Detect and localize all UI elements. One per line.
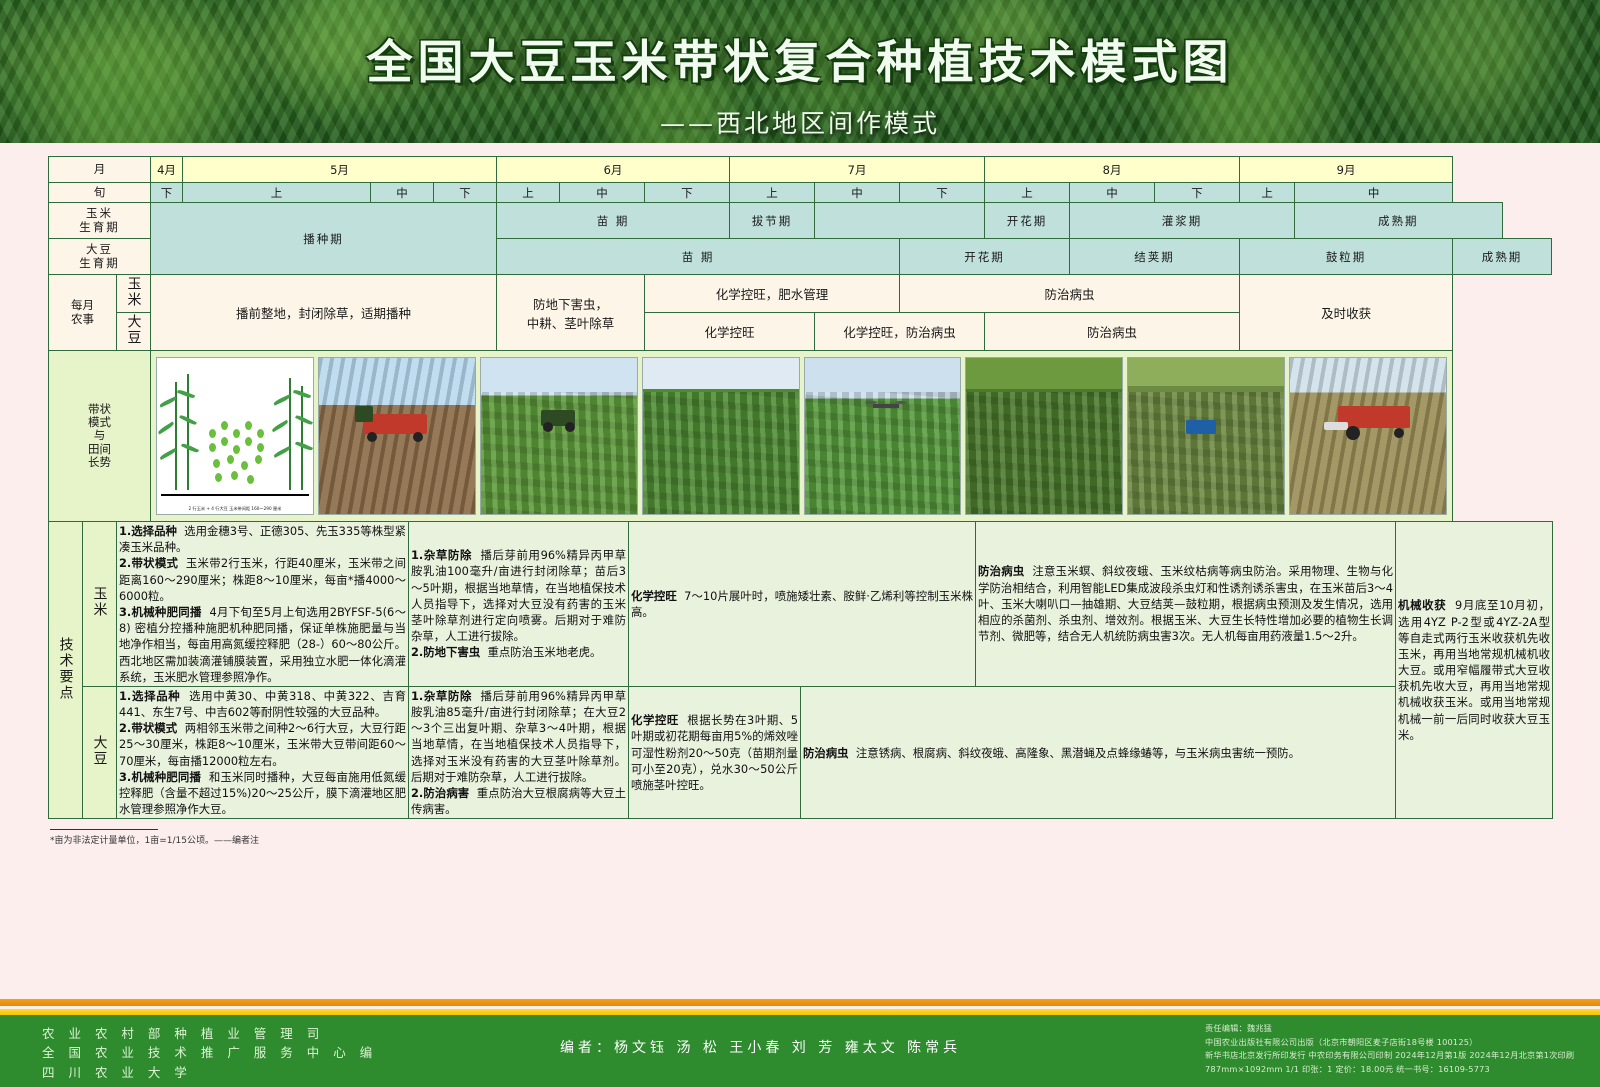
xun-cell-4: 上 xyxy=(497,183,560,203)
month-cell-4: 4月 xyxy=(151,157,183,183)
footnote: *亩为非法定计量单位，1亩=1/15公顷。——编者注 xyxy=(50,829,1554,846)
month-row: 月 4月 5月 6月 7月 8月 9月 xyxy=(49,157,1552,183)
header-banner: 全国大豆玉米带状复合种植技术模式图 ——西北地区间作模式 xyxy=(0,0,1600,143)
xun-cell-6: 下 xyxy=(645,183,730,203)
soy-pest-title: 防治病虫 xyxy=(803,746,849,760)
soy-stage-3: 结荚期 xyxy=(1070,239,1240,275)
photo-seedling-field xyxy=(480,357,638,515)
orange-divider-bar xyxy=(0,999,1600,1006)
xun-cell-2: 中 xyxy=(371,183,434,203)
xun-cell-10: 上 xyxy=(985,183,1070,203)
soy-weeds-cell: 1.杂草防除 播后芽前用96%精异丙甲草胺乳油85毫升/亩进行封闭除草；在大豆2… xyxy=(409,686,629,819)
corn-farm-2: 化学控旺，肥水管理 xyxy=(645,275,900,313)
footer: 农 业 农 村 部 种 植 业 管 理 司 全 国 农 业 技 术 推 广 服 … xyxy=(0,1015,1600,1087)
technical-corn-label-text: 玉米 xyxy=(90,586,110,618)
corn-pest-cell: 防治病虫 注意玉米螟、斜纹夜蛾、玉米纹枯病等病虫防治。采用物理、生物与化学防治相… xyxy=(976,522,1396,687)
corn-variety-title: 1.选择品种 xyxy=(119,524,177,538)
soy-chemical-cell: 化学控旺 根据长势在3叶期、5叶期或初花期每亩用5%的烯效唑可湿性粉剂20～50… xyxy=(629,686,801,819)
harvest-cell: 机械收获 9月底至10月初，选用4YZ P-2型或4YZ-2A型等自走式两行玉米… xyxy=(1396,522,1553,819)
footer-org-line-2: 四 川 农 业 大 学 xyxy=(42,1063,377,1082)
month-cell-5: 5月 xyxy=(183,157,497,183)
corn-stage-2: 拔节期 xyxy=(730,203,815,239)
soy-sowing-title: 3.机械种肥同播 xyxy=(119,770,201,784)
xun-cell-5: 中 xyxy=(560,183,645,203)
poster-sheet: 月 4月 5月 6月 7月 8月 9月 旬 下 上 中 下 上 中 下 上 中 … xyxy=(0,143,1600,846)
month-cell-6: 6月 xyxy=(497,157,730,183)
publisher-line-0: 责任编辑：魏兆猛 xyxy=(1205,1022,1574,1036)
xun-cell-12: 下 xyxy=(1155,183,1240,203)
photo-flowering-podding xyxy=(965,357,1123,515)
technical-label-text: 技术要点 xyxy=(56,637,76,701)
soy-disease-para: 2.防治病害 重点防治大豆根腐病等大豆土传病害。 xyxy=(411,785,626,817)
soy-pest-para: 防治病虫 注意锈病、根腐病、斜纹夜蛾、高隆象、黑潜蝇及点蜂缘蝽等，与玉米病虫害统… xyxy=(803,745,1393,761)
corn-variety-para: 1.选择品种 选用金穗3号、正德305、先玉335等株型紧凑玉米品种。 xyxy=(119,523,406,555)
harvest-title: 机械收获 xyxy=(1398,598,1446,612)
month-cell-9: 9月 xyxy=(1240,157,1453,183)
corn-farm-4: 及时收获 xyxy=(1240,275,1453,351)
technical-corn-label: 玉米 xyxy=(83,522,117,687)
corn-growth-label: 玉米生育期 xyxy=(49,203,151,239)
farming-corn-label: 玉米 xyxy=(117,275,151,313)
corn-weeds-cell: 1.杂草防除 播后芽前用96%精异丙甲草胺乳油100毫升/亩进行封闭除草；苗后3… xyxy=(409,522,629,687)
farming-soy-label-text: 大豆 xyxy=(124,314,144,346)
soy-stage-2: 开花期 xyxy=(900,239,1070,275)
footer-wrap: 农 业 农 村 部 种 植 业 管 理 司 全 国 农 业 技 术 推 广 服 … xyxy=(0,999,1600,1087)
photostrip-label: 带状模式与田间长势 xyxy=(49,351,151,522)
schedule-table: 月 4月 5月 6月 7月 8月 9月 旬 下 上 中 下 上 中 下 上 中 … xyxy=(48,156,1552,522)
corn-underground-title: 2.防地下害虫 xyxy=(411,645,480,659)
soy-weeds-title: 1.杂草防除 xyxy=(411,689,472,703)
corn-chemical-cell: 化学控旺 7～10片展叶时，喷施矮壮素、胺鲜·乙烯利等控制玉米株高。 xyxy=(629,522,976,687)
corn-stage-0: 播种期 xyxy=(151,203,497,275)
month-cell-7: 7月 xyxy=(730,157,985,183)
footnote-rule xyxy=(50,829,158,830)
soy-pattern-title: 2.带状模式 xyxy=(119,721,177,735)
soy-chemical-title: 化学控旺 xyxy=(631,713,679,727)
footer-organizations: 农 业 农 村 部 种 植 业 管 理 司 全 国 农 业 技 术 推 广 服 … xyxy=(42,1024,377,1082)
photo-mechanical-harvest xyxy=(1289,357,1447,515)
publisher-line-2: 新华书店北京发行所印发行 中农印务有限公司印制 2024年12月第1版 2024… xyxy=(1205,1049,1574,1063)
page-subtitle: ——西北地区间作模式 xyxy=(0,104,1600,140)
soy-variety-para: 1.选择品种 选用中黄30、中黄318、中黄322、吉育441、东生7号、中吉6… xyxy=(119,688,406,720)
technical-soy-label-text: 大豆 xyxy=(90,735,110,767)
farming-corn-label-text: 玉米 xyxy=(124,276,144,308)
photo-mature-stand xyxy=(1127,357,1285,515)
corn-stage-4: 开花期 xyxy=(985,203,1070,239)
soy-disease-title: 2.防治病害 xyxy=(411,786,469,800)
corn-pattern-title: 2.带状模式 xyxy=(119,556,178,570)
corn-weeds-para: 1.杂草防除 播后芽前用96%精异丙甲草胺乳油100毫升/亩进行封闭除草；苗后3… xyxy=(411,547,626,644)
soy-pest-body: 注意锈病、根腐病、斜纹夜蛾、高隆象、黑潜蝇及点蜂缘蝽等，与玉米病虫害统一预防。 xyxy=(856,746,1300,760)
publisher-line-3: 787mm×1092mm 1/1 印张：1 定价：18.00元 统一书号：161… xyxy=(1205,1063,1574,1077)
corn-sowing-para: 3.机械种肥同播 4月下旬至5月上旬选用2BYFSF-5(6～8) 密植分控播种… xyxy=(119,604,406,685)
footer-publisher: 责任编辑：魏兆猛 中国农业出版社有限公司出版（北京市朝阳区麦子店街18号楼 10… xyxy=(1205,1022,1574,1076)
photo-machine-sowing xyxy=(318,357,476,515)
corn-chemical-para: 化学控旺 7～10片展叶时，喷施矮壮素、胺鲜·乙烯利等控制玉米株高。 xyxy=(631,588,973,620)
harvest-para: 机械收获 9月底至10月初，选用4YZ P-2型或4YZ-2A型等自走式两行玉米… xyxy=(1398,597,1550,743)
corn-stage-5: 灌浆期 xyxy=(1070,203,1295,239)
month-row-label: 月 xyxy=(49,157,151,183)
xun-row-label: 旬 xyxy=(49,183,151,203)
technical-soy-label: 大豆 xyxy=(83,686,117,819)
corn-stage-1: 苗 期 xyxy=(497,203,730,239)
corn-pest-para: 防治病虫 注意玉米螟、斜纹夜蛾、玉米纹枯病等病虫防治。采用物理、生物与化学防治相… xyxy=(978,563,1393,644)
corn-underground-para: 2.防地下害虫 重点防治玉米地老虎。 xyxy=(411,644,626,660)
soy-weeds-body: 播后芽前用96%精异丙甲草胺乳油85毫升/亩进行封闭除草；在大豆2～3个三出复叶… xyxy=(411,689,626,784)
footer-org-line-0: 农 业 农 村 部 种 植 业 管 理 司 xyxy=(42,1024,377,1043)
soy-variety-title: 1.选择品种 xyxy=(119,689,180,703)
corn-farming-row: 每月农事 玉米 播前整地，封闭除草，适期播种 防地下害虫，中耕、茎叶除草 化学控… xyxy=(49,275,1552,313)
photo-drone-spraying xyxy=(804,357,962,515)
soy-farm-1: 化学控旺，防治病虫 xyxy=(815,313,985,351)
corn-pattern-para: 2.带状模式 玉米带2行玉米，行距40厘米，玉米带之间距离160～290厘米；株… xyxy=(119,555,406,604)
soy-pattern-para: 2.带状模式 两相邻玉米带之间种2～6行大豆，大豆行距25～30厘米，株距8～1… xyxy=(119,720,406,769)
xun-cell-11: 中 xyxy=(1070,183,1155,203)
photo-jointing-stage xyxy=(642,357,800,515)
soy-pest-cell: 防治病虫 注意锈病、根腐病、斜纹夜蛾、高隆象、黑潜蝇及点蜂缘蝽等，与玉米病虫害统… xyxy=(801,686,1396,819)
publisher-line-1: 中国农业出版社有限公司出版（北京市朝阳区麦子店街18号楼 100125） xyxy=(1205,1036,1574,1050)
footer-org-line-1: 全 国 农 业 技 术 推 广 服 务 中 心 编 xyxy=(42,1043,377,1062)
page-title: 全国大豆玉米带状复合种植技术模式图 xyxy=(0,26,1600,92)
xun-cell-0: 下 xyxy=(151,183,183,203)
soy-sowing-para: 3.机械种肥同播 和玉米同时播种，大豆每亩施用低氮缓控释肥（含量不超过15%)2… xyxy=(119,769,406,818)
footnote-text: *亩为非法定计量单位，1亩=1/15公顷。——编者注 xyxy=(50,836,259,846)
technical-soy-row: 大豆 1.选择品种 选用中黄30、中黄318、中黄322、吉育441、东生7号、… xyxy=(49,686,1553,819)
footer-editors: 编者：杨文钰 汤 松 王小春 刘 芳 雍太文 陈常兵 xyxy=(560,1037,961,1057)
xun-row: 旬 下 上 中 下 上 中 下 上 中 下 上 中 下 上 中 xyxy=(49,183,1552,203)
photo-pattern-diagram: 2 行玉米 + 4 行大豆 玉米带间距 160～290 厘米 xyxy=(156,357,314,515)
soy-stage-5: 成熟期 xyxy=(1453,239,1552,275)
soy-weeds-para: 1.杂草防除 播后芽前用96%精异丙甲草胺乳油85毫升/亩进行封闭除草；在大豆2… xyxy=(411,688,626,785)
farming-soy-label: 大豆 xyxy=(117,313,151,351)
corn-farm-1: 防地下害虫，中耕、茎叶除草 xyxy=(497,275,645,351)
corn-pest-title: 防治病虫 xyxy=(978,564,1025,578)
soy-growth-label: 大豆生育期 xyxy=(49,239,151,275)
xun-cell-13: 上 xyxy=(1240,183,1295,203)
corn-farm-3: 防治病虫 xyxy=(900,275,1240,313)
corn-farm-0: 播前整地，封闭除草，适期播种 xyxy=(151,275,497,351)
corn-pest-body: 注意玉米螟、斜纹夜蛾、玉米纹枯病等病虫防治。采用物理、生物与化学防治相结合，利用… xyxy=(978,564,1393,643)
farming-label: 每月农事 xyxy=(49,275,117,351)
soy-variety-pattern-sowing-cell: 1.选择品种 选用中黄30、中黄318、中黄322、吉育441、东生7号、中吉6… xyxy=(117,686,409,819)
month-cell-8: 8月 xyxy=(985,157,1240,183)
corn-growth-row: 玉米生育期 播种期 苗 期 拔节期 开花期 灌浆期 成熟期 xyxy=(49,203,1552,239)
corn-sowing-title: 3.机械种肥同播 xyxy=(119,605,202,619)
soy-stage-1: 苗 期 xyxy=(497,239,900,275)
technical-corn-row: 技术要点 玉米 1.选择品种 选用金穗3号、正德305、先玉335等株型紧凑玉米… xyxy=(49,522,1553,687)
corn-underground-body: 重点防治玉米地老虎。 xyxy=(487,645,601,659)
corn-weeds-title: 1.杂草防除 xyxy=(411,548,472,562)
xun-cell-8: 中 xyxy=(815,183,900,203)
soy-stage-4: 鼓粒期 xyxy=(1240,239,1453,275)
corn-weeds-body: 播后芽前用96%精异丙甲草胺乳油100毫升/亩进行封闭除草；苗后3～5叶期，根据… xyxy=(411,548,626,643)
soy-chemical-para: 化学控旺 根据长势在3叶期、5叶期或初花期每亩用5%的烯效唑可湿性粉剂20～50… xyxy=(631,712,798,793)
photostrip-cell: 2 行玉米 + 4 行大豆 玉米带间距 160～290 厘米 xyxy=(151,351,1453,522)
xun-cell-14: 中 xyxy=(1295,183,1453,203)
corn-chemical-body: 7～10片展叶时，喷施矮壮素、胺鲜·乙烯利等控制玉米株高。 xyxy=(631,589,973,619)
soy-farm-2: 防治病虫 xyxy=(985,313,1240,351)
xun-cell-9: 下 xyxy=(900,183,985,203)
corn-stage-3 xyxy=(815,203,985,239)
corn-variety-pattern-sowing-cell: 1.选择品种 选用金穗3号、正德305、先玉335等株型紧凑玉米品种。 2.带状… xyxy=(117,522,409,687)
xun-cell-7: 上 xyxy=(730,183,815,203)
soy-farm-0: 化学控旺 xyxy=(645,313,815,351)
photo-diagram-caption: 2 行玉米 + 4 行大豆 玉米带间距 160～290 厘米 xyxy=(157,506,313,512)
xun-cell-3: 下 xyxy=(434,183,497,203)
technical-label: 技术要点 xyxy=(49,522,83,819)
corn-chemical-title: 化学控旺 xyxy=(631,589,677,603)
harvest-body: 9月底至10月初，选用4YZ P-2型或4YZ-2A型等自走式两行玉米收获机先收… xyxy=(1398,598,1550,742)
corn-stage-6: 成熟期 xyxy=(1295,203,1502,239)
technical-points-table: 技术要点 玉米 1.选择品种 选用金穗3号、正德305、先玉335等株型紧凑玉米… xyxy=(48,521,1553,819)
photostrip-row: 带状模式与田间长势 xyxy=(49,351,1552,522)
xun-cell-1: 上 xyxy=(183,183,371,203)
